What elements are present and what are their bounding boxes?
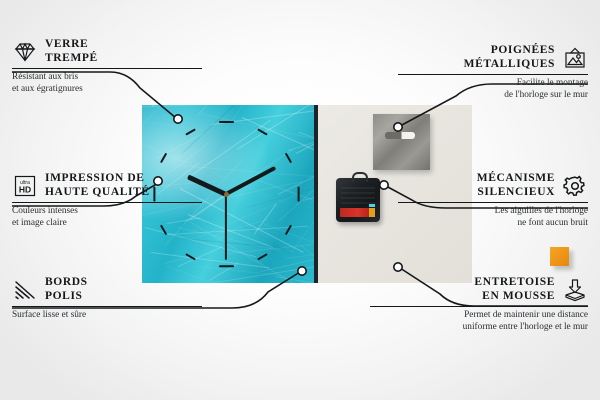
mechanism-texture — [341, 184, 375, 204]
feature-rule — [12, 306, 202, 307]
title-line-2: MÉTALLIQUES — [464, 58, 555, 70]
quartz-mechanism — [336, 178, 380, 222]
sub-line-2: ne font aucun bruit — [518, 218, 588, 228]
feature-bords-polis[interactable]: BORDS POLIS Surface lisse et sûre — [12, 276, 202, 322]
sub-line-1: Facilite le montage — [517, 78, 588, 88]
sub-line-1: Couleurs intenses — [12, 206, 78, 216]
hanger-slot — [385, 132, 415, 139]
ultra-hd-icon: ultra HD — [12, 174, 38, 198]
sub-line-1: Résistant aux bris — [12, 72, 78, 82]
feature-subtitle: Permet de maintenir une distance uniform… — [370, 310, 588, 333]
feature-header: VERRE TREMPÉ — [12, 38, 202, 65]
feature-impression-haute-qualite[interactable]: ultra HD IMPRESSION DE HAUTE QUALITÉ Cou… — [12, 172, 202, 229]
title-line-2: EN MOUSSE — [482, 290, 555, 302]
title-line-1: BORDS — [45, 276, 88, 288]
clock-tick — [285, 225, 292, 235]
foam-spacer-icon — [562, 278, 588, 302]
clock-tick — [185, 253, 195, 260]
title-line-1: IMPRESSION DE — [45, 172, 145, 184]
feature-rule — [12, 68, 202, 69]
sub-line-1: Surface lisse et sûre — [12, 310, 86, 320]
clock-tick — [185, 128, 195, 135]
feature-subtitle: Surface lisse et sûre — [12, 310, 202, 322]
feature-subtitle: Résistant aux bris et aux égratignures — [12, 72, 202, 95]
mechanism-shaft — [352, 172, 368, 182]
feature-rule — [12, 202, 202, 203]
battery-terminal — [369, 208, 375, 217]
diamond-icon — [12, 40, 38, 64]
feature-mecanisme-silencieux[interactable]: MÉCANISME SILENCIEUX Les aiguilles de l'… — [398, 172, 588, 229]
sub-line-2: et aux égratignures — [12, 84, 83, 94]
sub-line-2: uniforme entre l'horloge et le mur — [463, 322, 588, 332]
gear-icon — [562, 174, 588, 198]
foam-spacer — [550, 247, 569, 266]
polished-edges-icon — [12, 278, 38, 302]
feature-subtitle: Couleurs intenses et image claire — [12, 206, 202, 229]
battery — [340, 208, 370, 217]
sub-line-1: Les aiguilles de l'horloge — [495, 206, 588, 216]
feature-header: ENTRETOISE EN MOUSSE — [370, 276, 588, 303]
second-hand — [225, 194, 227, 260]
feature-subtitle: Facilite le montage de l'horloge sur le … — [398, 78, 588, 101]
feature-title: POIGNÉES MÉTALLIQUES — [464, 44, 555, 71]
infographic-canvas: VERRE TREMPÉ Résistant aux bris et aux é… — [0, 0, 600, 400]
feature-entretoise-en-mousse[interactable]: ENTRETOISE EN MOUSSE Permet de maintenir… — [370, 276, 588, 333]
picture-hanger-icon — [562, 46, 588, 70]
title-line-1: ENTRETOISE — [474, 276, 555, 288]
title-line-1: POIGNÉES — [491, 44, 555, 56]
clock-tick — [257, 128, 267, 135]
title-line-2: TREMPÉ — [45, 52, 98, 64]
feature-rule — [398, 202, 588, 203]
feature-header: BORDS POLIS — [12, 276, 202, 303]
feature-title: BORDS POLIS — [45, 276, 88, 303]
feature-header: MÉCANISME SILENCIEUX — [398, 172, 588, 199]
feature-title: MÉCANISME SILENCIEUX — [477, 172, 555, 199]
clock-tick — [297, 186, 299, 201]
sub-line-1: Permet de maintenir une distance — [464, 310, 588, 320]
feature-poignees-metalliques[interactable]: POIGNÉES MÉTALLIQUES Facilite le montage… — [398, 44, 588, 101]
feature-header: POIGNÉES MÉTALLIQUES — [398, 44, 588, 71]
feature-rule — [370, 306, 588, 307]
svg-text:HD: HD — [19, 184, 31, 194]
clock-tick — [257, 253, 267, 260]
sub-line-2: de l'horloge sur le mur — [504, 90, 588, 100]
feature-header: ultra HD IMPRESSION DE HAUTE QUALITÉ — [12, 172, 202, 199]
title-line-1: MÉCANISME — [477, 172, 555, 184]
clock-tick — [160, 153, 167, 163]
mechanism-label — [369, 204, 375, 207]
clock-center-pin — [224, 192, 229, 197]
feature-verre-trempe[interactable]: VERRE TREMPÉ Résistant aux bris et aux é… — [12, 38, 202, 95]
feature-title: VERRE TREMPÉ — [45, 38, 98, 65]
feature-title: IMPRESSION DE HAUTE QUALITÉ — [45, 172, 150, 199]
title-line-2: HAUTE QUALITÉ — [45, 186, 150, 198]
feature-title: ENTRETOISE EN MOUSSE — [474, 276, 555, 303]
feature-subtitle: Les aiguilles de l'horloge ne font aucun… — [398, 206, 588, 229]
title-line-1: VERRE — [45, 38, 88, 50]
feature-rule — [398, 74, 588, 75]
minute-hand — [225, 166, 277, 196]
sub-line-2: et image claire — [12, 218, 67, 228]
clock-tick — [219, 265, 234, 267]
clock-tick — [285, 153, 292, 163]
title-line-2: SILENCIEUX — [477, 186, 555, 198]
metal-hanger-plate — [373, 114, 430, 170]
clock-tick — [219, 121, 234, 123]
title-line-2: POLIS — [45, 290, 83, 302]
